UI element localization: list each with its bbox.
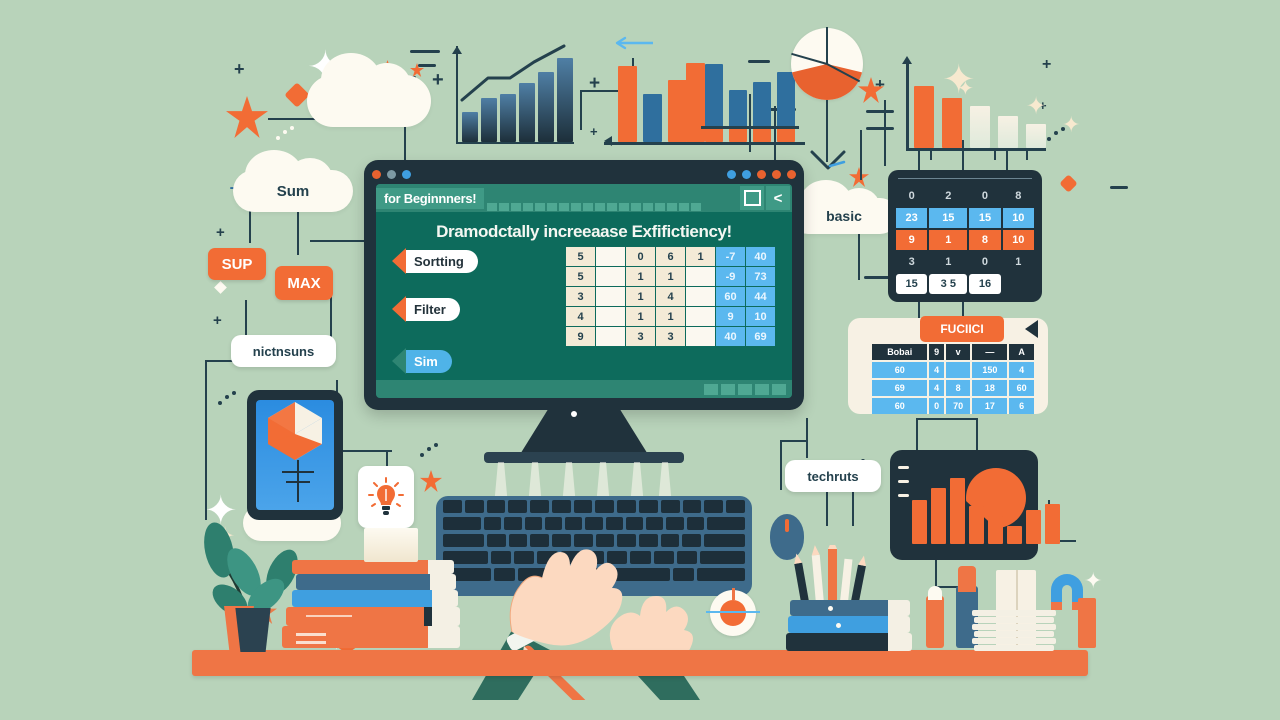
trendline (448, 40, 580, 150)
plus-icon: + (213, 313, 222, 328)
ribbon-cell[interactable] (571, 203, 581, 211)
ribbon-cell[interactable] (547, 203, 557, 211)
book (788, 616, 894, 633)
ribbon-cell[interactable] (559, 203, 569, 211)
scatter-dots-icon (418, 442, 440, 465)
chip-max-label: MAX (287, 275, 320, 292)
spreadsheet-cell[interactable]: 3 (566, 287, 596, 307)
window-titlebar (372, 166, 796, 182)
callout-sorting-label: Sortting (406, 250, 478, 273)
crosshair-icon (278, 458, 318, 504)
connector-line (852, 490, 854, 526)
bar (969, 506, 984, 544)
table-cell[interactable]: 3 5 (929, 274, 967, 294)
spreadsheet-cell[interactable] (596, 267, 626, 287)
ribbon-cell[interactable] (487, 203, 497, 211)
spreadsheet-cell[interactable]: 5 (566, 267, 596, 287)
arrow-down-icon (808, 148, 848, 177)
diamond-icon (284, 82, 309, 107)
table-row: 3101 (896, 252, 1034, 272)
dash-icon (866, 110, 894, 113)
table-row: 9334069 (566, 327, 776, 347)
chart-pie (791, 28, 863, 100)
book-pages (430, 574, 456, 590)
arrow-left-icon (392, 348, 406, 374)
ribbon-cell[interactable] (511, 203, 521, 211)
callout-filter[interactable]: Filter (392, 296, 460, 322)
spreadsheet-cell[interactable] (686, 327, 716, 347)
data-table-bottom-right-body: Bobai9v—A60415046948186060070176 (872, 344, 1034, 414)
bar (931, 488, 946, 544)
window-dot[interactable] (757, 170, 766, 179)
dash-icon (864, 276, 890, 279)
chart-descending-bars (900, 62, 1050, 160)
table-cell[interactable]: 1 (929, 230, 967, 250)
callout-filter-label: Filter (406, 298, 460, 321)
table-cell[interactable]: 18 (972, 380, 1007, 396)
spreadsheet-cell[interactable]: -7 (716, 247, 746, 267)
table-cell[interactable]: 8 (1003, 186, 1034, 206)
table-row: 5061-740 (566, 247, 776, 267)
spreadsheet-cell[interactable] (596, 307, 626, 327)
callout-sorting[interactable]: Sortting (392, 248, 478, 274)
status-bar (376, 380, 792, 398)
book-pages (888, 633, 912, 651)
table-cell[interactable]: 10 (1003, 208, 1034, 228)
table-row: 411910 (566, 307, 776, 327)
table-cell[interactable]: 0 (969, 252, 1000, 272)
ribbon-cell[interactable] (535, 203, 545, 211)
book-dot (836, 623, 841, 628)
arrow-left-icon (392, 248, 406, 274)
table-cell[interactable]: 10 (1003, 230, 1034, 250)
connector-line (884, 100, 886, 166)
book (296, 574, 436, 590)
dial-center (720, 600, 746, 626)
table-cell[interactable]: 6 (1009, 398, 1034, 414)
table-cell[interactable]: 8 (946, 380, 971, 396)
spreadsheet-cell[interactable]: 1 (626, 267, 656, 287)
spreadsheet-cell[interactable]: 4 (566, 307, 596, 327)
table-cell[interactable]: 60 (872, 362, 927, 378)
table-cell[interactable]: 60 (1009, 380, 1034, 396)
data-table-top-right-body: 020823151510918103101153 516 (896, 186, 1034, 294)
dash-icon (418, 64, 436, 67)
table-row: 69481860 (872, 380, 1034, 396)
connector-line (780, 440, 782, 490)
screen-headline: Dramodctally increeaase Exfifictiency! (376, 222, 792, 242)
callout-sim[interactable]: Sim (392, 348, 452, 374)
spreadsheet-cell[interactable]: 1 (626, 287, 656, 307)
spreadsheet-cell[interactable]: -9 (716, 267, 746, 287)
spreadsheet-cell[interactable] (596, 287, 626, 307)
ribbon-cell[interactable] (691, 203, 701, 211)
window-dot[interactable] (742, 170, 751, 179)
window-dot[interactable] (387, 170, 396, 179)
function-tab[interactable]: FUCIICI (920, 316, 1004, 342)
ribbon-cell[interactable] (523, 203, 533, 211)
ribbon-toolbar: for Beginnners! (376, 184, 792, 212)
spreadsheet-cell[interactable]: 3 (656, 327, 686, 347)
chart-dark-card (890, 450, 1038, 560)
pencils-group (790, 545, 870, 607)
window-dot[interactable] (787, 170, 796, 179)
table-cell[interactable]: 1 (1003, 252, 1034, 272)
connector-line (806, 418, 808, 458)
connector-line (336, 450, 392, 452)
cloud-basic-label: basic (790, 198, 898, 234)
connector-line (976, 418, 978, 450)
pill-techruts[interactable]: techruts (785, 460, 881, 492)
status-cell[interactable] (755, 384, 769, 395)
star-icon (420, 470, 442, 492)
star-icon (226, 96, 268, 138)
cloud-shape (307, 75, 431, 127)
connector-line (310, 240, 370, 242)
spreadsheet-cell[interactable]: 9 (716, 307, 746, 327)
book (282, 626, 430, 648)
table-cell[interactable]: 60 (872, 398, 927, 414)
table-row: 60070176 (872, 398, 1034, 414)
ribbon-cell[interactable] (631, 203, 641, 211)
screen: for Beginnners! (376, 184, 792, 398)
spreadsheet-cell[interactable]: 1 (656, 307, 686, 327)
table-cell[interactable]: 8 (969, 230, 1000, 250)
table-cell[interactable]: 2 (929, 186, 967, 206)
table: Bobai9v—A60415046948186060070176 (870, 342, 1036, 416)
data-table-bottom-right[interactable]: FUCIICI Bobai9v—A60415046948186060070176 (848, 318, 1048, 414)
arrow-left-icon (392, 296, 406, 322)
book-label (296, 641, 326, 644)
spreadsheet-cell[interactable]: 40 (716, 327, 746, 347)
cloud-sum-text: Sum (233, 170, 353, 212)
spreadsheet-cell[interactable]: 44 (746, 287, 776, 307)
spreadsheet-cell[interactable]: 69 (746, 327, 776, 347)
table-cell[interactable]: 16 (969, 274, 1000, 294)
window-dot[interactable] (402, 170, 411, 179)
window-dot[interactable] (772, 170, 781, 179)
dial-indicator (732, 588, 735, 600)
table-header-cell: A (1009, 344, 1034, 360)
book (292, 560, 434, 574)
table-row: 511-973 (566, 267, 776, 287)
spreadsheet-cell[interactable]: 1 (656, 267, 686, 287)
card-bar-group (912, 468, 1060, 544)
data-table-top-right-grid: 020823151510918103101153 516 (894, 184, 1036, 296)
table-cell[interactable]: 0 (929, 398, 943, 414)
lightbulb-card[interactable] (358, 466, 414, 528)
hexagon-graphic (256, 400, 334, 460)
bar (912, 500, 927, 544)
function-tab-label: FUCIICI (940, 322, 983, 336)
connector-line (780, 440, 806, 442)
spreadsheet-cell[interactable]: 1 (686, 247, 716, 267)
paper-sheet (364, 528, 418, 562)
book (790, 600, 894, 616)
plus-icon: + (216, 225, 225, 240)
ribbon-cell[interactable] (655, 203, 665, 211)
eraser-block (1078, 598, 1096, 648)
spreadsheet-cell[interactable]: 40 (746, 247, 776, 267)
table-row: 23151510 (896, 208, 1034, 228)
ribbon-cell[interactable] (595, 203, 605, 211)
spreadsheet-cell[interactable]: 9 (566, 327, 596, 347)
window-icon[interactable] (740, 186, 764, 210)
table-cell[interactable]: 15 (896, 274, 927, 294)
callout-sim-label: Sim (406, 350, 452, 373)
spreadsheet-cell[interactable] (686, 307, 716, 327)
ribbon-cell[interactable] (607, 203, 617, 211)
connector-line (826, 490, 828, 526)
book-pages (888, 600, 910, 616)
pill-functions-label: nictnsuns (253, 344, 314, 359)
table-row: 0208 (896, 186, 1034, 206)
connector-line (205, 360, 207, 520)
less-than-icon[interactable]: < (766, 186, 790, 210)
connector-line (330, 293, 332, 339)
diamond-icon (1059, 174, 1077, 192)
lightbulb-icon (366, 475, 406, 519)
table-cell[interactable]: 150 (972, 362, 1007, 378)
book-label (306, 615, 352, 617)
table-cell[interactable]: 0 (969, 186, 1000, 206)
data-table-bottom-right-grid: Bobai9v—A60415046948186060070176 (870, 342, 1036, 416)
illustration-canvas: + + + + + + + + + + + + ✦ ✦ ✦ ✦ ✦ ✦ ✦ ✦ … (0, 0, 1280, 720)
spreadsheet-cell[interactable]: 1 (626, 307, 656, 327)
spreadsheet-cell[interactable]: 3 (626, 327, 656, 347)
table-cell[interactable]: 69 (872, 380, 927, 396)
book-dot (828, 606, 833, 611)
chip-sup-label: SUP (222, 256, 253, 273)
cloud-sum-label: Sum (233, 170, 353, 212)
table-cell[interactable]: 1 (929, 252, 967, 272)
cloud-basic-text: basic (790, 198, 898, 234)
status-cell[interactable] (704, 384, 718, 395)
table-cell[interactable]: 9 (896, 230, 927, 250)
chart-growth-bars (448, 40, 580, 150)
table-header-cell: — (972, 344, 1007, 360)
table-cell[interactable]: 15 (929, 208, 967, 228)
table-cell[interactable]: 4 (1009, 362, 1034, 378)
table-row: 3146044 (566, 287, 776, 307)
spreadsheet-cell[interactable] (596, 327, 626, 347)
bar (1007, 526, 1022, 544)
book-label (296, 633, 326, 636)
marker-tip (928, 586, 942, 600)
connector-line (916, 418, 918, 452)
table-cell[interactable]: 17 (972, 398, 1007, 414)
bar (1026, 510, 1041, 544)
spreadsheet-grid[interactable]: 5061-740511-97331460444119109334069 (565, 246, 776, 347)
desk-surface (192, 650, 1088, 676)
book-pages (888, 616, 910, 633)
pill-functions[interactable]: nictnsuns (231, 335, 336, 367)
table-row: 153 516 (896, 274, 1034, 294)
connector-line (860, 130, 862, 180)
status-cell[interactable] (738, 384, 752, 395)
ribbon-cell[interactable] (667, 203, 677, 211)
status-cell[interactable] (721, 384, 735, 395)
dial-line (706, 611, 760, 613)
book-pages (432, 590, 458, 607)
plus-icon: + (590, 125, 598, 138)
table-cell[interactable]: 0 (896, 186, 927, 206)
chip-max[interactable]: MAX (275, 266, 333, 300)
plus-icon: + (432, 70, 444, 90)
monitor-led-icon (571, 411, 577, 417)
table-row: 6041504 (872, 362, 1034, 378)
status-cell[interactable] (772, 384, 786, 395)
spreadsheet-cell[interactable] (686, 267, 716, 287)
spreadsheet-cell[interactable]: 5 (566, 247, 596, 267)
book (786, 633, 894, 651)
arrow-left-icon[interactable] (1025, 320, 1038, 338)
plus-icon: + (234, 60, 245, 78)
ribbon-cell[interactable] (619, 203, 629, 211)
book-pages (428, 560, 454, 574)
bar (988, 516, 1003, 544)
dash-icon (1110, 186, 1128, 189)
ribbon-cell[interactable] (643, 203, 653, 211)
connector-line (935, 560, 937, 586)
spreadsheet-cell[interactable]: 0 (626, 247, 656, 267)
table-cell[interactable]: 15 (969, 208, 1000, 228)
connector-line (916, 418, 976, 420)
spreadsheet-cell[interactable] (596, 247, 626, 267)
chart-stacked-bars (695, 48, 805, 152)
scatter-dots-icon (274, 125, 298, 148)
spreadsheet-body: 5061-740511-97331460444119109334069 (566, 247, 776, 347)
marker-cap-orange (958, 566, 976, 592)
table-header-cell: v (946, 344, 971, 360)
plate-stack (972, 610, 1056, 650)
marker-orange (926, 596, 944, 648)
scatter-dots-icon (216, 390, 240, 413)
diamond-icon (214, 281, 227, 294)
table-cell[interactable]: 70 (946, 398, 971, 414)
chip-sup[interactable]: SUP (208, 248, 266, 280)
ribbon-cell[interactable] (499, 203, 509, 211)
table-row: 91810 (896, 230, 1034, 250)
table-cell[interactable]: 3 (896, 252, 927, 272)
spreadsheet-cell[interactable]: 60 (716, 287, 746, 307)
star-icon (849, 167, 869, 187)
ribbon-title: for Beginnners! (376, 188, 484, 209)
table-cell[interactable]: 4 (929, 380, 943, 396)
table-cell[interactable]: 23 (896, 208, 927, 228)
data-table-top-right[interactable]: 020823151510918103101153 516 (888, 170, 1042, 302)
bar (1045, 504, 1060, 544)
tablet-screen (256, 400, 334, 510)
spreadsheet-cell[interactable]: 10 (746, 307, 776, 327)
spreadsheet-cell[interactable]: 6 (656, 247, 686, 267)
spreadsheet-cell[interactable]: 4 (656, 287, 686, 307)
spreadsheet-cell[interactable] (686, 287, 716, 307)
table-cell[interactable] (946, 362, 971, 378)
table-header-row: Bobai9v—A (872, 344, 1034, 360)
pill-techruts-label: techruts (807, 469, 858, 484)
connector-line (580, 90, 582, 130)
book-pages (432, 607, 460, 626)
monitor-stand-neck (519, 410, 649, 456)
ribbon-cell[interactable] (583, 203, 593, 211)
window-dot[interactable] (372, 170, 381, 179)
table-header-cell: Bobai (872, 344, 927, 360)
table-cell[interactable]: 4 (929, 362, 943, 378)
table-header-cell: 9 (929, 344, 943, 360)
dash-icon (866, 127, 894, 130)
window-dot[interactable] (727, 170, 736, 179)
ribbon-cell[interactable] (679, 203, 689, 211)
monitor: for Beginnners! (364, 160, 804, 410)
book-pages (428, 626, 460, 648)
dash-icon (410, 50, 440, 53)
book (292, 590, 438, 607)
ribbon-cells (484, 184, 740, 213)
bar (950, 478, 965, 544)
spreadsheet-cell[interactable]: 73 (746, 267, 776, 287)
